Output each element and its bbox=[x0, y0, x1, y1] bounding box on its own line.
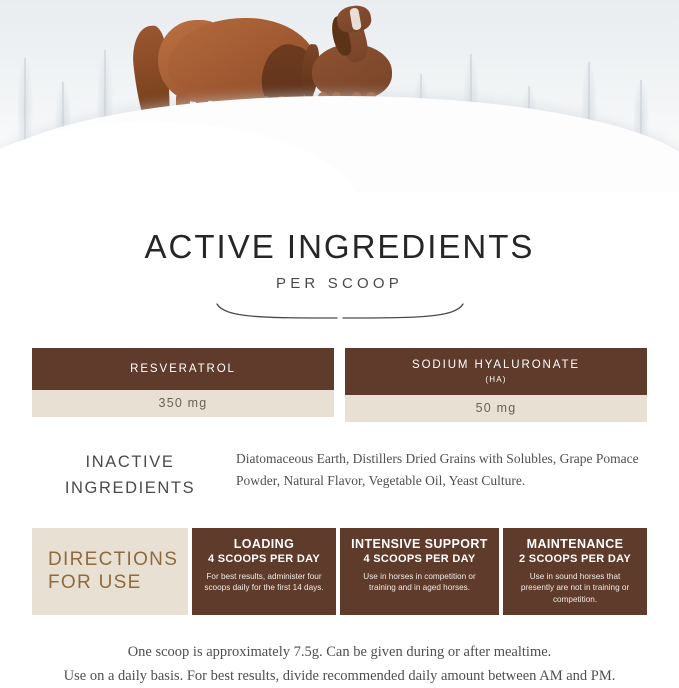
ingredient-name: RESVERATROL bbox=[32, 348, 334, 390]
directions-scoops: 4 SCOOPS PER DAY bbox=[349, 553, 490, 565]
inactive-label-line2: INGREDIENTS bbox=[32, 476, 228, 502]
footer-line-1: One scoop is approximately 7.5g. Can be … bbox=[40, 641, 639, 664]
ingredient-amount: 50 mg bbox=[345, 395, 647, 422]
directions-label-line1: DIRECTIONS bbox=[48, 548, 188, 571]
product-detail-page: ACTIVE INGREDIENTS PER SCOOP RESVERATROL… bbox=[0, 0, 679, 679]
ingredient-card-sodium-hyaluronate: SODIUM HYALURONATE (HA) 50 mg bbox=[345, 348, 647, 422]
directions-column-maintenance: MAINTENANCE 2 SCOOPS PER DAY Use in soun… bbox=[503, 528, 647, 616]
inactive-label-line1: INACTIVE bbox=[32, 450, 228, 476]
directions-scoops: 2 SCOOPS PER DAY bbox=[512, 553, 638, 565]
directions-title: INTENSIVE SUPPORT bbox=[349, 537, 490, 551]
directions-title: MAINTENANCE bbox=[512, 537, 638, 551]
directions-title: LOADING bbox=[201, 537, 327, 551]
ingredient-amount: 350 mg bbox=[32, 390, 334, 417]
inactive-ingredients-text: Diatomaceous Earth, Distillers Dried Gra… bbox=[228, 448, 647, 491]
directions-body: Use in horses in competition or training… bbox=[349, 571, 490, 594]
ingredient-name: SODIUM HYALURONATE bbox=[412, 359, 580, 371]
directions-body: Use in sound horses that presently are n… bbox=[512, 571, 638, 606]
directions-body: For best results, administer four scoops… bbox=[201, 571, 327, 594]
directions-label: DIRECTIONS FOR USE bbox=[32, 528, 188, 616]
hero-image bbox=[0, 0, 679, 192]
directions-scoops: 4 SCOOPS PER DAY bbox=[201, 553, 327, 565]
footer-line-2: Use on a daily basis. For best results, … bbox=[40, 665, 639, 688]
directions-column-intensive-support: INTENSIVE SUPPORT 4 SCOOPS PER DAY Use i… bbox=[340, 528, 499, 616]
ingredient-card-resveratrol: RESVERATROL 350 mg bbox=[32, 348, 334, 422]
usage-footer: One scoop is approximately 7.5g. Can be … bbox=[40, 641, 639, 688]
inactive-ingredients-label: INACTIVE INGREDIENTS bbox=[32, 448, 228, 501]
ingredient-name-wrapper: SODIUM HYALURONATE (HA) bbox=[345, 348, 647, 395]
tree-icon bbox=[24, 58, 26, 146]
active-ingredients-cards: RESVERATROL 350 mg SODIUM HYALURONATE (H… bbox=[32, 348, 647, 422]
directions-for-use-section: DIRECTIONS FOR USE LOADING 4 SCOOPS PER … bbox=[32, 528, 647, 616]
inactive-ingredients-section: INACTIVE INGREDIENTS Diatomaceous Earth,… bbox=[32, 448, 647, 501]
page-title: ACTIVE INGREDIENTS bbox=[0, 228, 679, 266]
directions-label-line2: FOR USE bbox=[48, 571, 188, 594]
page-subtitle: PER SCOOP bbox=[0, 275, 679, 292]
active-ingredients-header: ACTIVE INGREDIENTS PER SCOOP bbox=[0, 228, 679, 320]
ingredient-abbreviation: (HA) bbox=[351, 375, 641, 385]
swash-divider-icon bbox=[215, 302, 465, 320]
directions-column-loading: LOADING 4 SCOOPS PER DAY For best result… bbox=[192, 528, 336, 616]
